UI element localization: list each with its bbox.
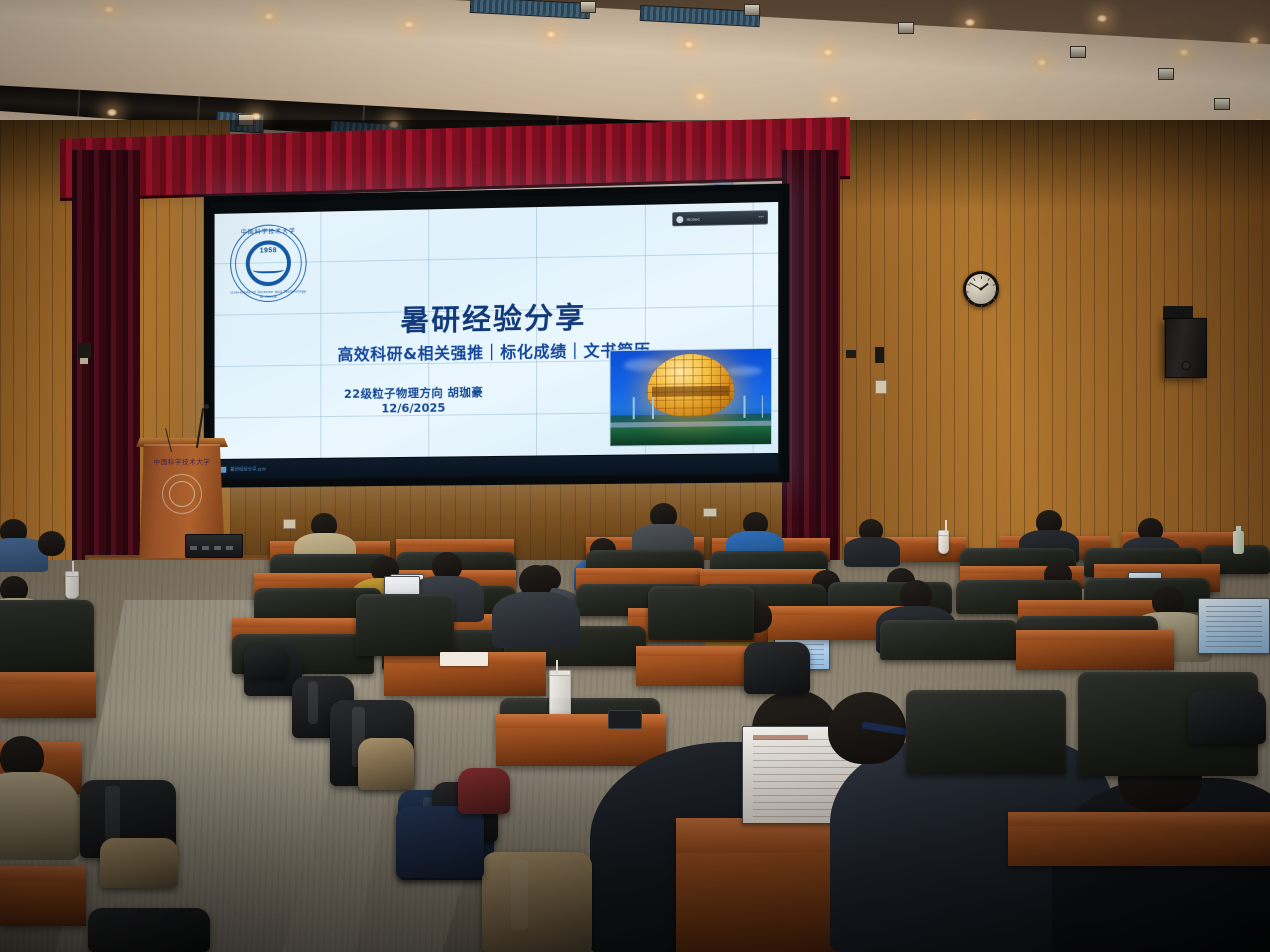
taskbar-item-label[interactable]: 暑研经验分享.pptx bbox=[230, 466, 266, 472]
wall-sconce-light bbox=[78, 343, 91, 359]
recessed-downlight bbox=[694, 92, 706, 101]
power-outlet-plate bbox=[703, 508, 717, 517]
audience-member bbox=[844, 537, 900, 567]
recessed-downlight bbox=[545, 30, 557, 39]
recessed-downlight bbox=[1096, 14, 1108, 23]
ustc-seal-cn-text: 中国科学技术大学 bbox=[230, 226, 306, 236]
analog-wall-clock bbox=[963, 271, 999, 307]
power-outlet-plate bbox=[875, 380, 887, 394]
av-indicator-lights bbox=[190, 546, 238, 550]
recessed-downlight bbox=[250, 112, 262, 121]
presentation-screen[interactable]: 中国科学技术大学 1958 University of Science and … bbox=[204, 183, 790, 487]
backpack bbox=[1188, 690, 1266, 744]
auditorium-seat[interactable] bbox=[880, 620, 1018, 660]
ustc-seal-year: 1958 bbox=[230, 247, 306, 255]
auditorium-seat[interactable] bbox=[356, 594, 454, 656]
recessed-downlight bbox=[828, 95, 840, 104]
recessed-downlight bbox=[388, 120, 400, 129]
windows-icon[interactable] bbox=[220, 466, 226, 472]
drink-cup bbox=[549, 672, 571, 720]
backpack bbox=[744, 642, 810, 694]
backpack bbox=[358, 738, 414, 790]
globe-of-science-icon bbox=[647, 353, 734, 417]
drink-cup bbox=[938, 532, 949, 554]
backpack bbox=[458, 768, 510, 814]
wall-mounted-device bbox=[875, 347, 884, 363]
recessed-downlight bbox=[822, 48, 834, 57]
ceiling-spotlight bbox=[1070, 46, 1086, 58]
recessed-downlight bbox=[263, 12, 275, 21]
ceiling-spotlight bbox=[898, 22, 914, 34]
wall-mounted-loudspeaker bbox=[1165, 318, 1207, 378]
photo-ground bbox=[611, 413, 772, 445]
screen-notification-bar[interactable]: Inovec ••• bbox=[672, 210, 768, 226]
recessed-downlight bbox=[1248, 36, 1260, 45]
ceiling-spotlight bbox=[744, 4, 760, 16]
ceiling-spotlight bbox=[580, 1, 596, 13]
notification-menu-icon[interactable]: ••• bbox=[759, 214, 764, 220]
ustc-seal-en-text: University of Science and Technology of … bbox=[230, 288, 306, 299]
recessed-downlight bbox=[964, 18, 976, 27]
recessed-downlight bbox=[1178, 48, 1190, 57]
auditorium-seat[interactable] bbox=[0, 600, 94, 680]
drink-cup bbox=[65, 573, 79, 599]
ustc-seal-icon: 中国科学技术大学 1958 University of Science and … bbox=[230, 224, 306, 303]
recessed-downlight bbox=[106, 108, 118, 117]
notification-text: Inovec bbox=[686, 215, 755, 221]
auditorium-seat[interactable] bbox=[648, 586, 754, 640]
cern-globe-photo bbox=[609, 348, 772, 447]
recessed-downlight bbox=[103, 5, 115, 14]
backpack bbox=[396, 806, 484, 878]
notebook-paper bbox=[440, 652, 488, 666]
speaker-cone-icon bbox=[1182, 361, 1191, 370]
ceiling-spotlight bbox=[1158, 68, 1174, 80]
clock-center-pin bbox=[980, 288, 983, 291]
audience-member bbox=[492, 592, 580, 648]
ustc-seal-icon bbox=[162, 474, 202, 514]
water-bottle bbox=[1233, 531, 1244, 554]
recessed-downlight bbox=[403, 20, 415, 29]
ceiling-projector-mount bbox=[846, 350, 856, 358]
audience-member bbox=[38, 531, 65, 556]
slide-surface[interactable]: 中国科学技术大学 1958 University of Science and … bbox=[215, 202, 779, 459]
auditorium-seat[interactable] bbox=[906, 690, 1066, 774]
lecture-desk bbox=[0, 866, 86, 926]
audience-member bbox=[0, 772, 80, 860]
power-outlet-plate bbox=[283, 519, 296, 529]
stage-curtain-right bbox=[782, 150, 840, 570]
lecture-hall-photo: 中国科学技术大学 1958 University of Science and … bbox=[0, 0, 1270, 952]
user-icon bbox=[676, 216, 683, 223]
av-control-box[interactable] bbox=[185, 534, 243, 558]
lecture-desk bbox=[1008, 812, 1270, 866]
microphone-icon bbox=[204, 404, 209, 409]
backpack bbox=[100, 838, 178, 888]
stage-curtain-left bbox=[72, 150, 140, 590]
recessed-downlight bbox=[683, 40, 695, 49]
backpack bbox=[244, 644, 288, 678]
tablet-device[interactable] bbox=[608, 710, 642, 729]
backpack bbox=[482, 852, 592, 952]
recessed-downlight bbox=[1036, 58, 1048, 67]
lecture-desk bbox=[1016, 630, 1174, 670]
backpack bbox=[88, 908, 210, 952]
slide-title: 暑研经验分享 bbox=[215, 291, 779, 342]
ceiling-spotlight bbox=[1214, 98, 1230, 110]
laptop[interactable] bbox=[1198, 598, 1270, 654]
podium-inscription: 中国科学技术大学 bbox=[139, 456, 225, 466]
lecture-desk bbox=[0, 672, 96, 718]
